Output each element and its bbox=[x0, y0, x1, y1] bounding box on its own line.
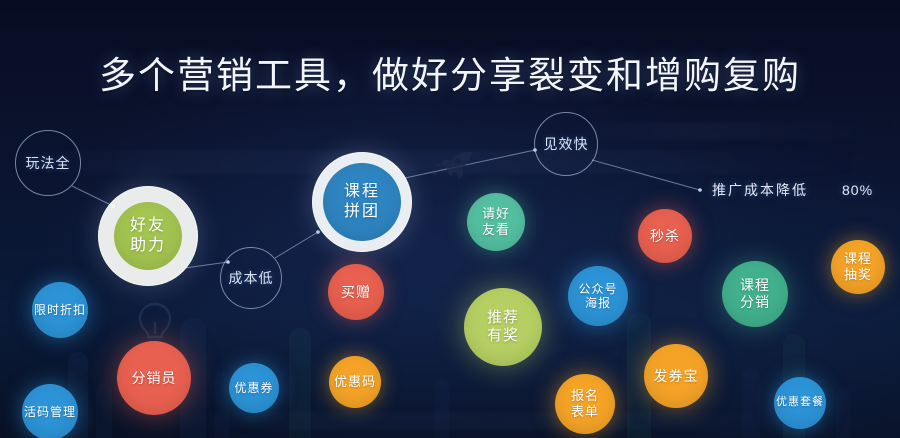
tool-bubble-label-line: 请好 bbox=[482, 206, 510, 222]
tool-bubble-label-line: 报名 bbox=[571, 388, 599, 404]
tool-bubble-7[interactable]: 请好友看 bbox=[467, 193, 525, 251]
connection-endpoint-dot bbox=[698, 188, 702, 192]
tool-bubble-label-line: 秒杀 bbox=[650, 228, 680, 245]
tool-bubble-label-line: 课程 bbox=[844, 251, 872, 267]
infographic-canvas: 多个营销工具，做好分享裂变和增购复购 推广成本降低80% 玩法全成本低见效快好友… bbox=[0, 0, 900, 438]
outline-node-label: 玩法全 bbox=[26, 153, 71, 173]
tool-bubble-label-line: 买赠 bbox=[341, 284, 371, 301]
hero-node-label-line: 助力 bbox=[130, 236, 166, 256]
connection-line bbox=[72, 186, 113, 206]
tool-bubble-label-line: 优惠套餐 bbox=[776, 396, 824, 409]
tool-bubble-13[interactable]: 发券宝 bbox=[644, 344, 708, 408]
hero-node-inner: 好友助力 bbox=[114, 202, 182, 270]
tool-bubble-14[interactable]: 课程抽奖 bbox=[831, 240, 885, 294]
hero-node-label-line: 课程 bbox=[344, 182, 380, 202]
stat-promotion-cost: 推广成本降低80% bbox=[712, 180, 873, 200]
outline-node-label: 成本低 bbox=[229, 268, 274, 288]
connection-line bbox=[592, 160, 700, 190]
tool-bubble-11[interactable]: 秒杀 bbox=[638, 209, 692, 263]
tool-bubble-label-line: 分销 bbox=[740, 294, 770, 311]
hero-node-label-line: 拼团 bbox=[344, 202, 380, 222]
tool-bubble-2[interactable]: 分销员 bbox=[117, 341, 191, 415]
tool-bubble-label-line: 优惠券 bbox=[234, 381, 273, 395]
tool-bubble-label-line: 海报 bbox=[585, 296, 611, 310]
tool-bubble-label-line: 抽奖 bbox=[844, 267, 872, 283]
hero-node-inner: 课程拼团 bbox=[323, 163, 401, 241]
tool-bubble-8[interactable]: 推荐有奖 bbox=[464, 288, 542, 366]
tool-bubble-4[interactable]: 优惠券 bbox=[229, 363, 279, 413]
tool-bubble-3[interactable]: 活码管理 bbox=[22, 384, 78, 438]
tool-bubble-12[interactable]: 课程分销 bbox=[722, 261, 788, 327]
tool-bubble-label-line: 发券宝 bbox=[654, 368, 699, 385]
tool-bubble-label-line: 课程 bbox=[740, 277, 770, 294]
tool-bubble-6[interactable]: 优惠码 bbox=[329, 356, 381, 408]
tool-bubble-label-line: 有奖 bbox=[487, 327, 519, 345]
hero-node-1[interactable]: 好友助力 bbox=[98, 186, 198, 286]
page-title: 多个营销工具，做好分享裂变和增购复购 bbox=[0, 45, 900, 99]
tool-bubble-15[interactable]: 优惠套餐 bbox=[774, 377, 826, 429]
tool-bubble-label-line: 活码管理 bbox=[24, 405, 76, 419]
outline-node-1[interactable]: 玩法全 bbox=[15, 130, 81, 196]
stat-value: 80% bbox=[842, 182, 873, 198]
tool-bubble-label-line: 限时折扣 bbox=[34, 303, 86, 317]
tool-bubble-label-line: 表单 bbox=[571, 404, 599, 420]
connection-endpoint-dot bbox=[316, 230, 320, 234]
tool-bubble-1[interactable]: 限时折扣 bbox=[32, 282, 88, 338]
tool-bubble-label-line: 优惠码 bbox=[334, 374, 376, 390]
connection-line bbox=[275, 232, 318, 258]
tool-bubble-9[interactable]: 公众号海报 bbox=[568, 266, 628, 326]
tool-bubble-label-line: 分销员 bbox=[132, 370, 177, 387]
hero-node-label-line: 好友 bbox=[130, 216, 166, 236]
rocket-icon bbox=[432, 150, 474, 185]
tool-bubble-10[interactable]: 报名表单 bbox=[555, 374, 615, 434]
hero-node-2[interactable]: 课程拼团 bbox=[312, 152, 412, 252]
outline-node-3[interactable]: 见效快 bbox=[534, 112, 598, 176]
tool-bubble-5[interactable]: 买赠 bbox=[328, 264, 384, 320]
outline-node-label: 见效快 bbox=[544, 134, 589, 154]
outline-node-2[interactable]: 成本低 bbox=[220, 247, 282, 309]
tool-bubble-label-line: 推荐 bbox=[487, 309, 519, 327]
tool-bubble-label-line: 公众号 bbox=[578, 282, 617, 296]
tool-bubble-label-line: 友看 bbox=[482, 222, 510, 238]
stat-label: 推广成本降低 bbox=[712, 182, 808, 198]
